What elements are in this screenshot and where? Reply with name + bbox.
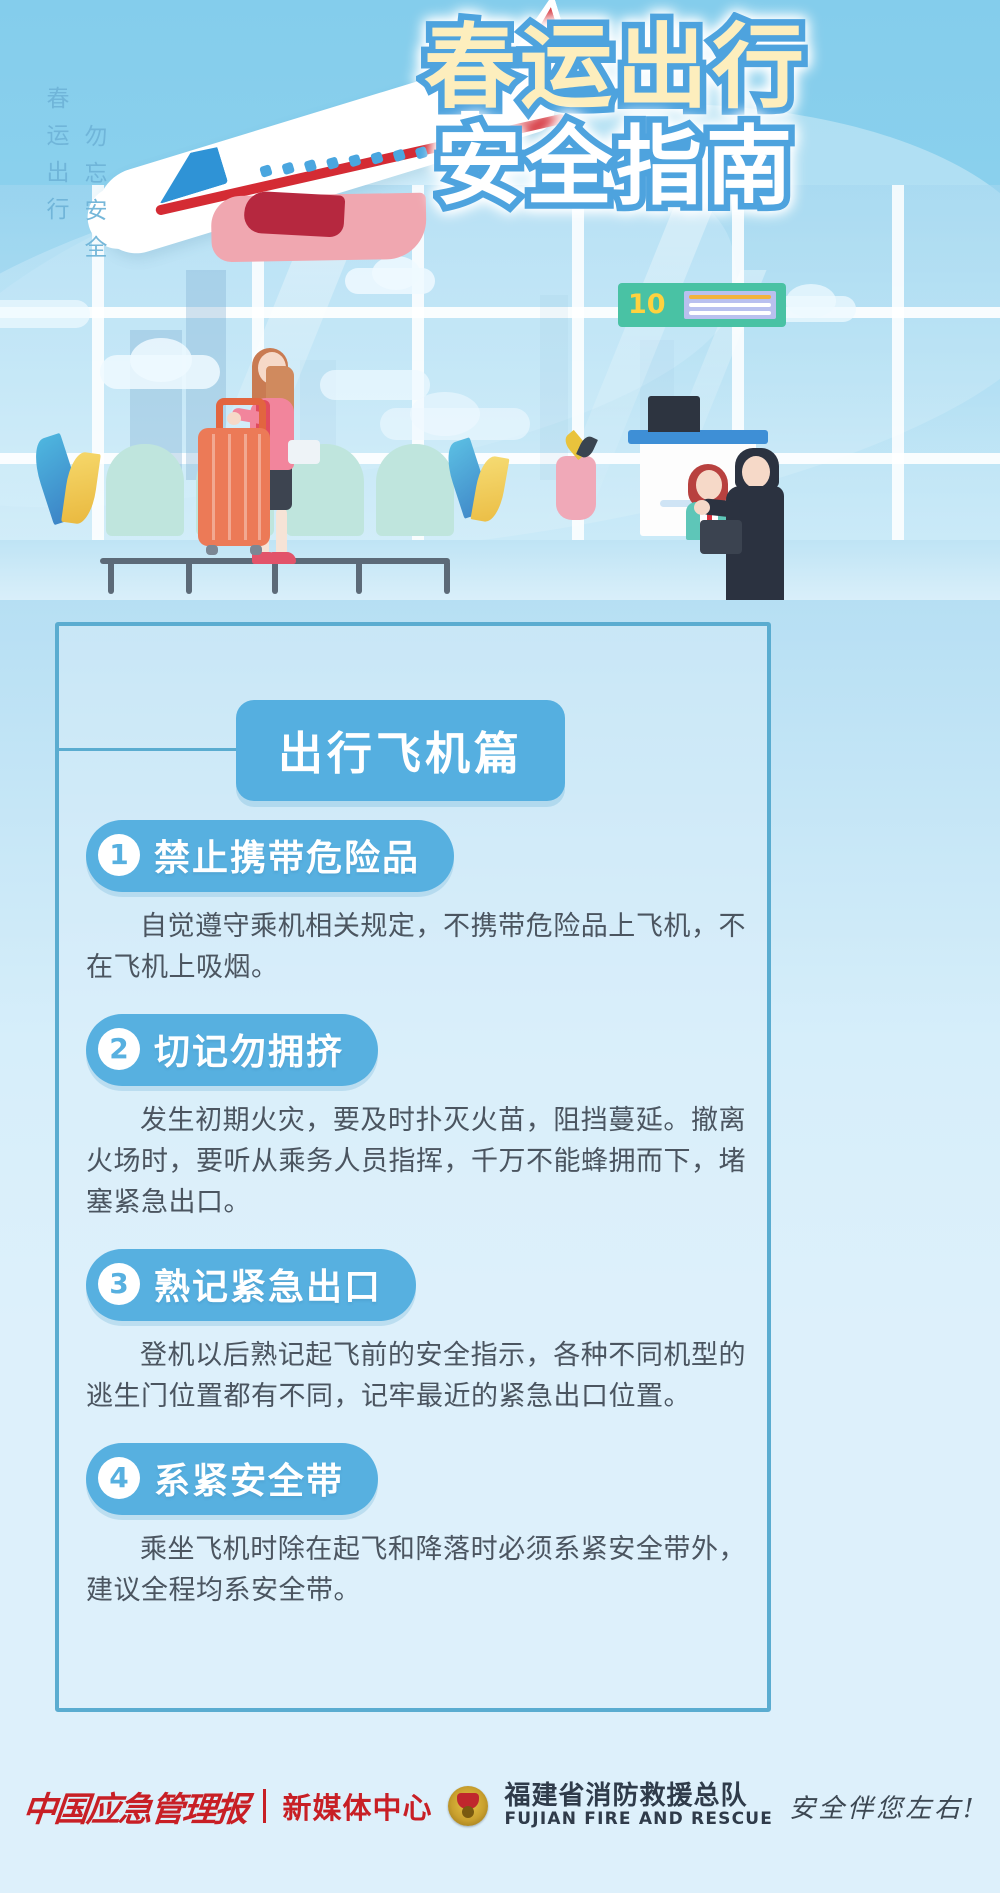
item-3-pill: 3 熟记紧急出口 — [86, 1249, 416, 1321]
publisher-brand: 中国应急管理报 — [21, 1782, 250, 1831]
item-4-number: 4 — [98, 1457, 140, 1499]
item-2-title: 切记勿拥挤 — [154, 1023, 344, 1075]
item-2-number: 2 — [98, 1028, 140, 1070]
item-2-pill: 2 切记勿拥挤 — [86, 1014, 378, 1086]
item-1-body: 自觉遵守乘机相关规定，不携带危险品上飞机，不在飞机上吸烟。 — [86, 906, 746, 988]
item-4-pill: 4 系紧安全带 — [86, 1443, 378, 1515]
fire-unit: 福建省消防救援总队 FUJIAN FIRE AND RESCUE — [504, 1783, 773, 1828]
item-1-pill: 1 禁止携带危险品 — [86, 820, 454, 892]
list-item: 3 熟记紧急出口 登机以后熟记起飞前的安全指示，各种不同机型的逃生门位置都有不同… — [86, 1249, 766, 1417]
vase — [556, 456, 596, 520]
footer: 中国应急管理报 新媒体中心 福建省消防救援总队 FUJIAN FIRE AND … — [0, 1766, 1000, 1846]
item-3-number: 3 — [98, 1263, 140, 1305]
item-3-body: 登机以后熟记起飞前的安全指示，各种不同机型的逃生门位置都有不同，记牢最近的紧急出… — [86, 1335, 746, 1417]
list-item: 4 系紧安全带 乘坐飞机时除在起飞和降落时必须系紧安全带外，建议全程均系安全带。 — [86, 1443, 766, 1611]
list-item: 2 切记勿拥挤 发生初期火灾，要及时扑灭火苗，阻挡蔓延。撤离火场时，要听从乘务人… — [86, 1014, 766, 1223]
item-1-title: 禁止携带危险品 — [154, 829, 420, 881]
gate-number: 10 — [628, 290, 666, 320]
poster-title: 春运出行 安全指南 — [336, 22, 896, 210]
footer-slogan: 安全伴您左右! — [789, 1788, 976, 1825]
title-line-2: 安全指南 — [336, 124, 896, 210]
list-item: 1 禁止携带危险品 自觉遵守乘机相关规定，不携带危险品上飞机，不在飞机上吸烟。 — [86, 820, 766, 988]
vertical-text-left: 勿忘安全 — [76, 124, 110, 272]
poster-root: 10 — [0, 0, 1000, 1893]
fire-rescue-badge-icon — [448, 1786, 488, 1826]
item-4-title: 系紧安全带 — [154, 1452, 344, 1504]
media-center-label: 新媒体中心 — [282, 1785, 432, 1827]
guideline-list: 1 禁止携带危险品 自觉遵守乘机相关规定，不携带危险品上飞机，不在飞机上吸烟。 … — [86, 820, 766, 1637]
footer-divider — [263, 1789, 266, 1823]
briefcase — [700, 520, 742, 554]
gate-number-board: 10 — [618, 283, 786, 327]
item-1-number: 1 — [98, 834, 140, 876]
item-4-body: 乘坐飞机时除在起飞和降落时必须系紧安全带外，建议全程均系安全带。 — [86, 1529, 746, 1611]
fire-unit-en: FUJIAN FIRE AND RESCUE — [504, 1811, 773, 1829]
terminal-floor — [0, 540, 1000, 600]
vertical-text-right: 春运出行 — [38, 86, 72, 234]
item-3-title: 熟记紧急出口 — [154, 1258, 382, 1310]
item-2-body: 发生初期火灾，要及时扑灭火苗，阻挡蔓延。撤离火场时，要听从乘务人员指挥，千万不能… — [86, 1100, 746, 1223]
title-line-1: 春运出行 — [336, 22, 896, 114]
fire-unit-cn: 福建省消防救援总队 — [504, 1783, 773, 1810]
section-header: 出行飞机篇 — [236, 700, 565, 801]
section-connector-line — [55, 748, 245, 751]
